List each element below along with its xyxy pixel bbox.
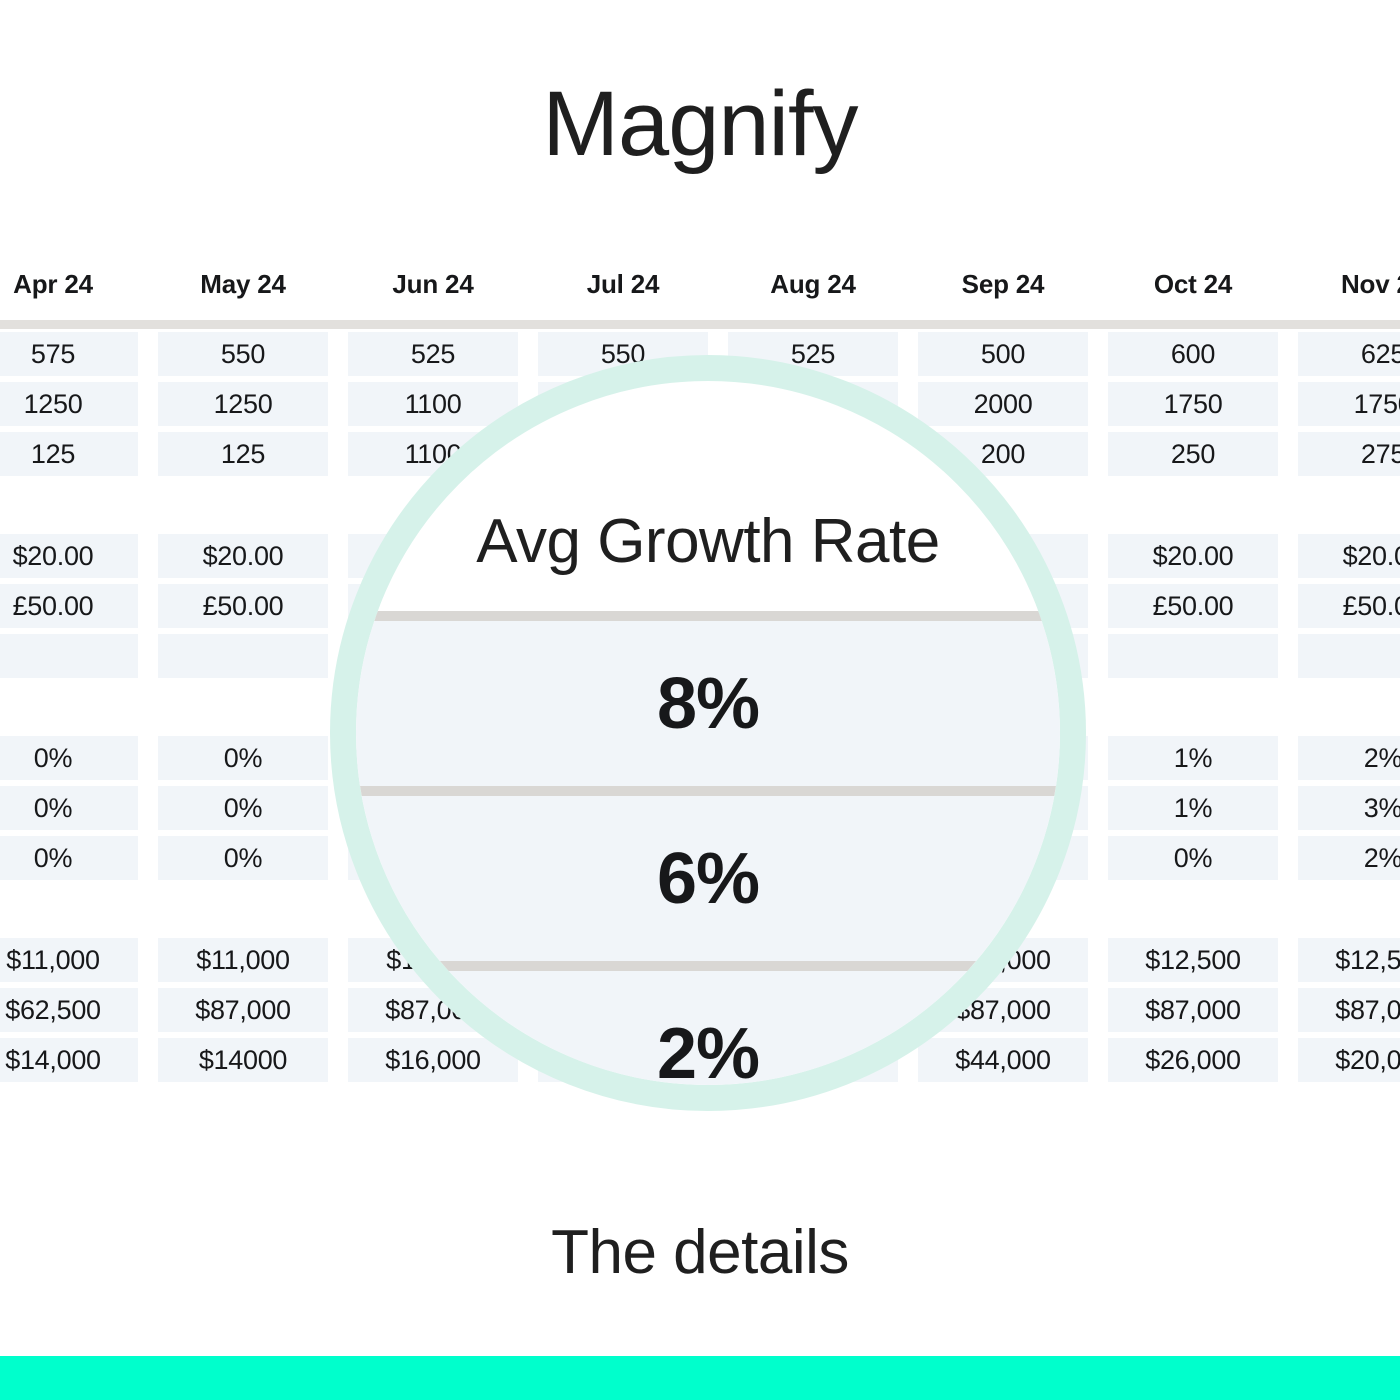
accent-bar [0,1356,1400,1400]
table-cell[interactable]: 1% [1108,786,1278,830]
column-header: May 24 [158,248,328,320]
table-cell[interactable] [1108,634,1278,678]
table-cell[interactable]: $87,000 [158,988,328,1032]
magnified-rule [356,786,1060,796]
table-cell[interactable]: 625 [1298,332,1400,376]
table-cell[interactable]: £50.00 [1108,584,1278,628]
table-cell[interactable]: $20.00 [1108,534,1278,578]
table-cell[interactable]: $20.00 [1298,534,1400,578]
table-cell[interactable]: 1250 [0,382,138,426]
table-cell[interactable]: 0% [1108,836,1278,880]
table-cell[interactable]: $12,500 [1108,938,1278,982]
table-cell[interactable]: $62,500 [0,988,138,1032]
table-header-row: Apr 24May 24Jun 24Jul 24Aug 24Sep 24Oct … [0,248,1400,320]
table-cell[interactable]: 0% [0,836,138,880]
table-cell[interactable]: 250 [1108,432,1278,476]
table-cell[interactable]: £50.00 [158,584,328,628]
table-cell[interactable]: £50.00 [0,584,138,628]
column-header: Oct 24 [1108,248,1278,320]
table-cell[interactable]: $87,000 [1108,988,1278,1032]
table-cell[interactable]: $26,000 [1108,1038,1278,1082]
table-cell[interactable]: $20.00 [158,534,328,578]
magnified-value: 2% [657,1013,759,1095]
column-header: Jun 24 [348,248,518,320]
table-cell[interactable]: 0% [158,836,328,880]
table-cell[interactable]: 3% [1298,786,1400,830]
column-header: Apr 24 [0,248,138,320]
table-cell[interactable] [158,634,328,678]
table-cell[interactable]: 1% [1108,736,1278,780]
page-footer-title: The details [0,1222,1400,1284]
table-cell[interactable]: 2% [1298,836,1400,880]
magnified-value: 6% [657,838,759,920]
table-cell[interactable]: 0% [158,736,328,780]
table-cell[interactable] [0,634,138,678]
table-cell[interactable] [1298,634,1400,678]
table-cell[interactable]: 125 [158,432,328,476]
magnified-value-row: 8% [356,621,1060,786]
table-cell[interactable]: $20,000 [1298,1038,1400,1082]
table-cell[interactable]: 275 [1298,432,1400,476]
column-header: Aug 24 [728,248,898,320]
magnifier-content: Avg Growth Rate 8% 6% 2% [356,381,1060,1085]
magnified-value: 8% [657,663,759,745]
page-title: Magnify [0,78,1400,170]
table-cell[interactable]: 0% [0,786,138,830]
table-cell[interactable]: 550 [158,332,328,376]
magnified-rule [356,961,1060,971]
magnified-rule [356,611,1060,621]
magnified-value-row: 6% [356,796,1060,961]
table-cell[interactable]: $14,000 [0,1038,138,1082]
table-cell[interactable]: $87,000 [1298,988,1400,1032]
table-cell[interactable]: $11,000 [158,938,328,982]
table-cell[interactable]: 0% [0,736,138,780]
table-cell[interactable]: 125 [0,432,138,476]
column-header: Sep 24 [918,248,1088,320]
magnified-row-label: Avg Growth Rate [356,471,1060,611]
column-header: Nov 24 [1298,248,1400,320]
table-cell[interactable]: 1750 [1298,382,1400,426]
table-cell[interactable]: 600 [1108,332,1278,376]
table-cell[interactable]: 525 [348,332,518,376]
magnifier-lens: Avg Growth Rate 8% 6% 2% [330,355,1086,1111]
table-cell[interactable]: $14000 [158,1038,328,1082]
table-cell[interactable]: 1250 [158,382,328,426]
table-cell[interactable]: 500 [918,332,1088,376]
slide-canvas: Magnify Apr 24May 24Jun 24Jul 24Aug 24Se… [0,0,1400,1400]
table-cell[interactable]: 1750 [1108,382,1278,426]
table-cell[interactable]: $20.00 [0,534,138,578]
table-cell[interactable]: 575 [0,332,138,376]
table-cell[interactable]: $12,500 [1298,938,1400,982]
table-cell[interactable]: 2% [1298,736,1400,780]
table-cell[interactable]: 0% [158,786,328,830]
table-cell[interactable]: £50.00 [1298,584,1400,628]
header-separator [0,320,1400,329]
table-cell[interactable]: $11,000 [0,938,138,982]
column-header: Jul 24 [538,248,708,320]
